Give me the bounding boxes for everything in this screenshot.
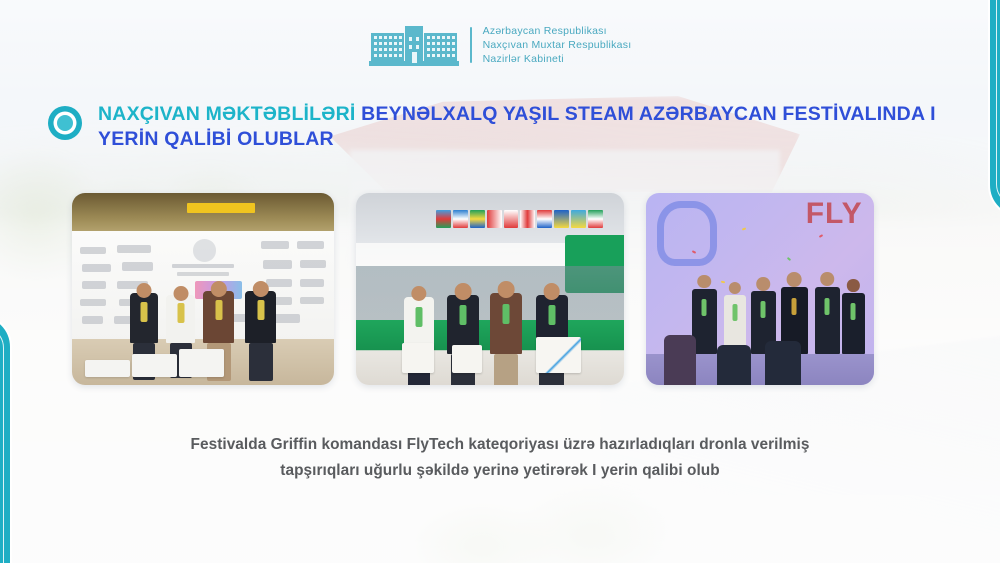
photo-stage-ceremony[interactable]: FLY: [646, 193, 874, 385]
org-line-3: Nazirlər Kabineti: [483, 53, 632, 66]
org-line-1: Azərbaycan Respublikası: [483, 25, 632, 38]
photo3-person-4: [815, 287, 840, 354]
photo3-logo-glyph: [657, 201, 716, 266]
photo1-student-1: [130, 293, 159, 343]
photo1-podium-3: [85, 360, 130, 377]
photo3-fly-text: FLY: [806, 197, 863, 231]
presentation-slide: Azərbaycan Respublikası Naxçıvan Muxtar …: [0, 0, 1000, 563]
photo-gallery: FLY: [72, 193, 934, 385]
caption-line-2: tapşırıqları uğurlu şəkildə yerinə yetir…: [0, 458, 1000, 484]
photo1-podium-1: [179, 349, 224, 378]
photo2-gift-bag-3: [536, 337, 582, 373]
photo3-dancer: [664, 335, 696, 385]
headline-teal-part: NAXÇIVAN MƏKTƏBLİLƏRİ: [98, 103, 361, 125]
photo1-ceiling: [72, 193, 334, 235]
photo3-foreground-viewer-2: [765, 341, 801, 385]
page-title: NAXÇIVAN MƏKTƏBLİLƏRİ BEYNƏLXALQ YAŞIL S…: [98, 102, 966, 152]
caption-line-1: Festivalda Griffin komandası FlyTech kat…: [0, 432, 1000, 458]
photo1-wall-text-1: [172, 264, 235, 268]
photo2-student-3: [490, 293, 522, 354]
photo2-gift-bag-1: [402, 343, 434, 374]
photo1-student-3: [203, 291, 234, 343]
government-building-icon: [369, 24, 459, 66]
photo1-student-4: [245, 291, 276, 343]
headline-row: NAXÇIVAN MƏKTƏBLİLƏRİ BEYNƏLXALQ YAŞIL S…: [46, 102, 966, 152]
org-line-2: Naxçıvan Muxtar Respublikası: [483, 39, 632, 52]
header-logo: Azərbaycan Respublikası Naxçıvan Muxtar …: [0, 24, 1000, 66]
photo3-person-5: [842, 293, 865, 354]
photo-expo-hall[interactable]: [356, 193, 624, 385]
photo2-international-flags: [436, 210, 602, 227]
photo1-student-2: [166, 295, 195, 343]
photo1-podium-2: [132, 354, 177, 377]
photo1-emblem: [193, 239, 217, 262]
photo3-foreground-viewer-1: [717, 345, 751, 385]
teal-ring-icon: [46, 104, 84, 142]
photo1-wall-text-2: [177, 272, 229, 276]
photo-podium-award[interactable]: [72, 193, 334, 385]
photo2-gift-bag-2: [452, 345, 481, 374]
logo-text-block: Azərbaycan Respublikası Naxçıvan Muxtar …: [483, 25, 632, 66]
photo1-yellow-sign: [187, 203, 255, 214]
logo-divider: [470, 27, 472, 63]
caption-block: Festivalda Griffin komandası FlyTech kat…: [0, 432, 1000, 484]
